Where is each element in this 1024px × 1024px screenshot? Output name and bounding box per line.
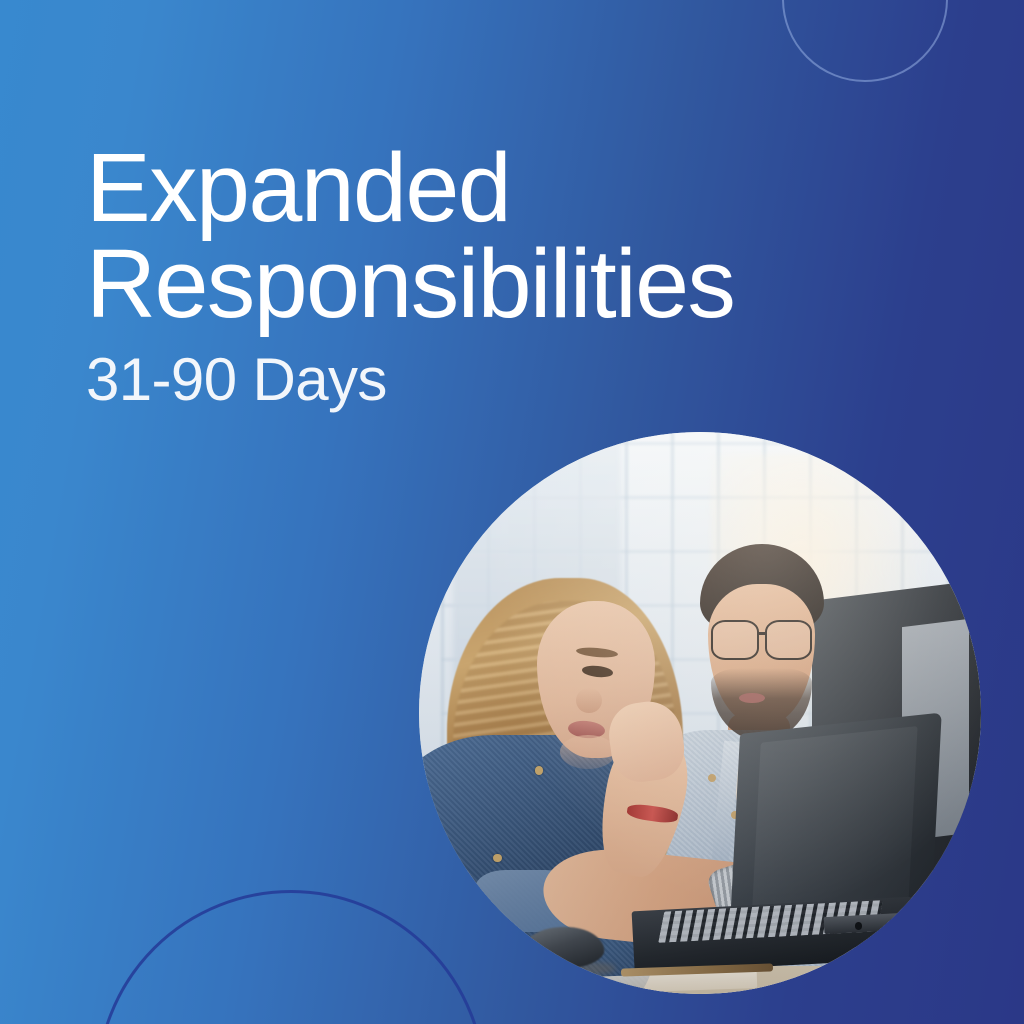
headline-block: Expanded Responsibilities 31-90 Days: [86, 140, 886, 410]
laptop-port: [881, 928, 889, 936]
page-subtitle: 31-90 Days: [86, 350, 886, 410]
photo-scene: [419, 432, 981, 994]
page-title-line-1: Expanded: [86, 140, 886, 236]
eyeglasses-icon: [765, 620, 813, 659]
woman-jacket-button: [493, 854, 501, 862]
laptop-screen-panel: [752, 727, 919, 925]
slide-canvas: Expanded Responsibilities 31-90 Days: [0, 0, 1024, 1024]
man-shirt-button: [708, 774, 716, 782]
outline-circle-top-right-icon: [782, 0, 948, 82]
eyeglasses-bridge: [758, 632, 767, 635]
woman-jacket-button: [535, 766, 543, 774]
woman-nose: [576, 688, 601, 713]
photo-circle: [419, 432, 981, 994]
eyeglasses-icon: [711, 620, 759, 659]
page-title-line-2: Responsibilities: [86, 236, 886, 332]
woman-chin: [560, 735, 616, 769]
page-title: Expanded Responsibilities: [86, 140, 886, 332]
